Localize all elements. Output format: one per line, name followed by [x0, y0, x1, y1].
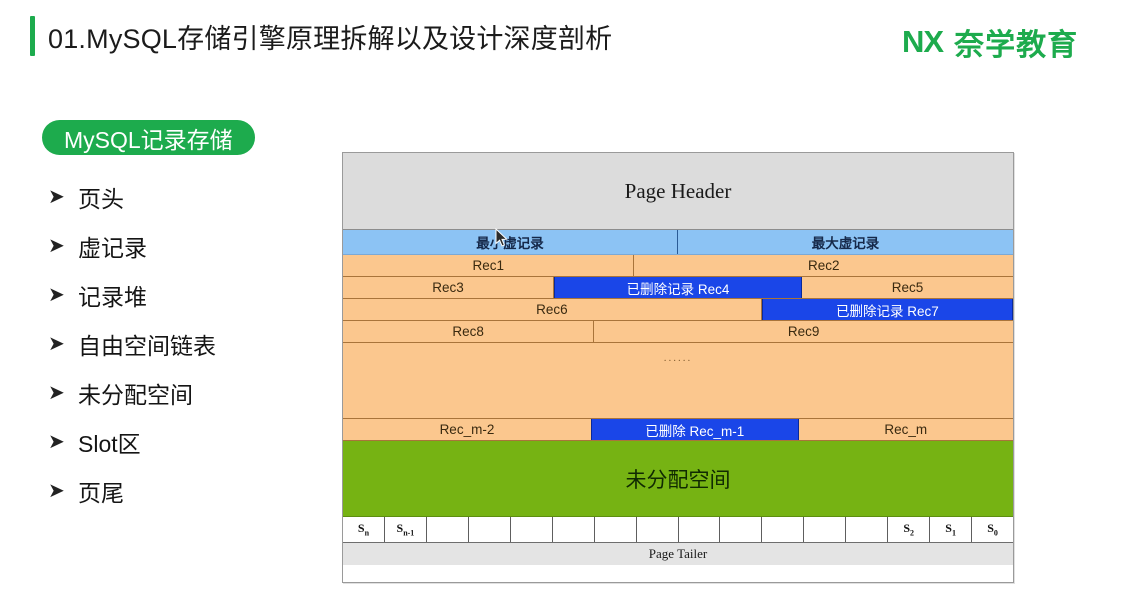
bullet-item-2: ➤虚记录 — [48, 221, 338, 270]
bullet-item-5: ➤未分配空间 — [48, 368, 338, 417]
brand-logo: NX 奈学教育 — [902, 20, 1125, 64]
bullet-arrow-icon: ➤ — [48, 334, 78, 354]
page-title: 01.MySQL存储引擎原理拆解以及设计深度剖析 — [48, 17, 612, 56]
slot-directory-row: SnSn-1S2S1S0 — [343, 517, 1013, 543]
slot-cell: S1 — [930, 517, 972, 542]
section-pill-label: MySQL记录存储 — [64, 121, 233, 155]
bullet-item-label: Slot区 — [78, 425, 141, 459]
bullet-item-4: ➤自由空间链表 — [48, 319, 338, 368]
title-accent-bar — [30, 16, 35, 56]
bullet-arrow-icon: ➤ — [48, 236, 78, 256]
slot-cell — [846, 517, 888, 542]
slot-cell — [553, 517, 595, 542]
slot-cell: S2 — [888, 517, 930, 542]
slot-cell — [469, 517, 511, 542]
record-row: Rec8Rec9 — [343, 321, 1013, 343]
record-heap-rows: Rec1Rec2Rec3已删除记录 Rec4Rec5Rec6已删除记录 Rec7… — [343, 255, 1013, 343]
bullet-item-label: 自由空间链表 — [78, 327, 216, 361]
slot-cell — [679, 517, 721, 542]
record-row: Rec3已删除记录 Rec4Rec5 — [343, 277, 1013, 299]
record-cell: Rec2 — [634, 255, 1013, 276]
bullet-arrow-icon: ➤ — [48, 285, 78, 305]
record-row: Rec6已删除记录 Rec7 — [343, 299, 1013, 321]
record-cell: Rec3 — [343, 277, 554, 298]
page-header-bar: 01.MySQL存储引擎原理拆解以及设计深度剖析 NX 奈学教育 — [0, 0, 1125, 78]
slot-cell: S0 — [972, 517, 1013, 542]
virtual-record-cell: 最大虚记录 — [678, 230, 1013, 254]
slot-cell — [762, 517, 804, 542]
tail-record-row: Rec_m-2已删除 Rec_m-1Rec_m — [343, 419, 1013, 441]
mysql-page-structure-diagram: Page Header 最小虚记录最大虚记录 Rec1Rec2Rec3已删除记录… — [342, 152, 1014, 583]
bullet-arrow-icon: ➤ — [48, 432, 78, 452]
record-cell: Rec_m-2 — [343, 419, 591, 440]
record-cell: Rec_m — [799, 419, 1013, 440]
bullet-list: ➤页头➤虚记录➤记录堆➤自由空间链表➤未分配空间➤Slot区➤页尾 — [48, 172, 338, 515]
slot-cell — [804, 517, 846, 542]
page-tailer-label: Page Tailer — [649, 546, 707, 562]
unallocated-space-block: 未分配空间 — [343, 441, 1013, 517]
bullet-item-3: ➤记录堆 — [48, 270, 338, 319]
record-cell: Rec1 — [343, 255, 634, 276]
bullet-item-7: ➤页尾 — [48, 466, 338, 515]
ellipsis-label: ...... — [664, 352, 693, 364]
record-cell: Rec9 — [594, 321, 1013, 342]
records-ellipsis-block: ...... — [343, 343, 1013, 419]
logo-text: 奈学教育 — [954, 20, 1078, 64]
slot-cell — [637, 517, 679, 542]
slot-cell: Sn-1 — [385, 517, 427, 542]
bullet-item-label: 页尾 — [78, 474, 124, 508]
bullet-item-label: 页头 — [78, 180, 124, 214]
slot-cell: Sn — [343, 517, 385, 542]
diagram-page-header-block: Page Header — [343, 153, 1013, 230]
virtual-record-cell: 最小虚记录 — [343, 230, 678, 254]
bullet-item-label: 虚记录 — [78, 229, 147, 263]
bullet-arrow-icon: ➤ — [48, 187, 78, 207]
record-cell: Rec6 — [343, 299, 762, 320]
slot-cell — [720, 517, 762, 542]
section-pill-mysql-record-storage: MySQL记录存储 — [42, 120, 255, 155]
deleted-record-cell: 已删除记录 Rec7 — [762, 299, 1013, 320]
bullet-item-label: 记录堆 — [78, 278, 147, 312]
slot-cell — [427, 517, 469, 542]
slot-cell — [511, 517, 553, 542]
virtual-records-row: 最小虚记录最大虚记录 — [343, 230, 1013, 255]
page-tailer-block: Page Tailer — [343, 543, 1013, 565]
bullet-item-label: 未分配空间 — [78, 376, 193, 410]
logo-mark-icon: NX — [902, 24, 943, 60]
bullet-arrow-icon: ➤ — [48, 481, 78, 501]
slot-cell — [595, 517, 637, 542]
record-cell: Rec8 — [343, 321, 594, 342]
bullet-arrow-icon: ➤ — [48, 383, 78, 403]
deleted-record-cell: 已删除记录 Rec4 — [554, 277, 802, 298]
bullet-item-1: ➤页头 — [48, 172, 338, 221]
record-cell: Rec5 — [802, 277, 1013, 298]
deleted-record-cell: 已删除 Rec_m-1 — [591, 419, 799, 440]
record-row: Rec1Rec2 — [343, 255, 1013, 277]
page-header-label: Page Header — [625, 179, 732, 204]
unallocated-space-label: 未分配空间 — [626, 464, 731, 494]
bullet-item-6: ➤Slot区 — [48, 417, 338, 466]
